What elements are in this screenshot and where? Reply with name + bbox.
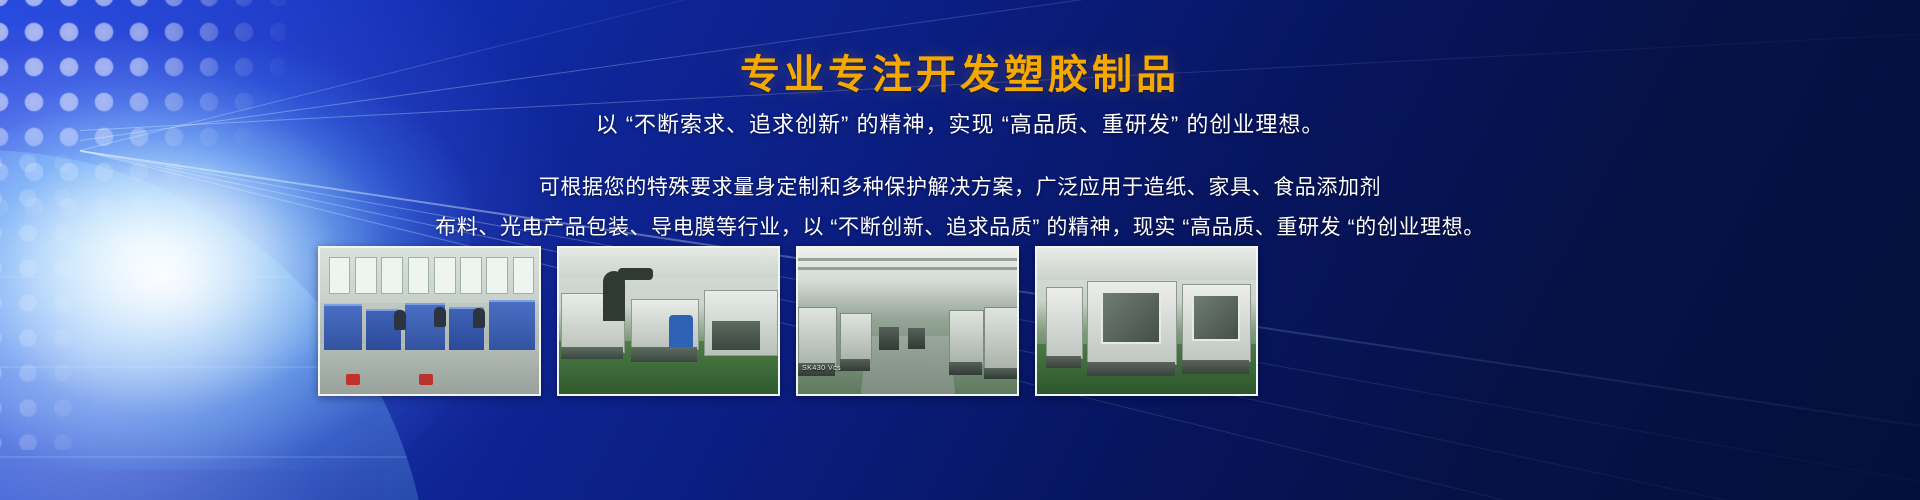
promo-banner: 专业专注开发塑胶制品 以 “不断索求、追求创新” 的精神，实现 “高品质、重研发… (0, 0, 1920, 500)
photo-cnc-enclosure-machine[interactable] (1035, 246, 1258, 396)
banner-body: 可根据您的特殊要求量身定制和多种保护解决方案，广泛应用于造纸、家具、食品添加剂 … (0, 168, 1920, 248)
banner-headline: 专业专注开发塑胶制品 (0, 42, 1920, 100)
banner-body-line-2: 布料、光电产品包装、导电膜等行业，以 “不断创新、追求品质” 的精神，现实 “高… (0, 208, 1920, 248)
banner-subtitle: 以 “不断索求、追求创新” 的精神，实现 “高品质、重研发” 的创业理想。 (0, 107, 1920, 139)
photo-cnc-machining-room[interactable] (557, 246, 780, 396)
factory-photo-strip: SK430 Vcs (318, 246, 1258, 392)
banner-body-line-1: 可根据您的特殊要求量身定制和多种保护解决方案，广泛应用于造纸、家具、食品添加剂 (0, 168, 1920, 208)
photo-office-workstations[interactable] (318, 246, 541, 396)
banner-content: 专业专注开发塑胶制品 以 “不断索求、追求创新” 的精神，实现 “高品质、重研发… (0, 0, 1920, 500)
machine-label: SK430 Vcs (802, 365, 841, 372)
photo-production-line[interactable]: SK430 Vcs (796, 246, 1019, 396)
